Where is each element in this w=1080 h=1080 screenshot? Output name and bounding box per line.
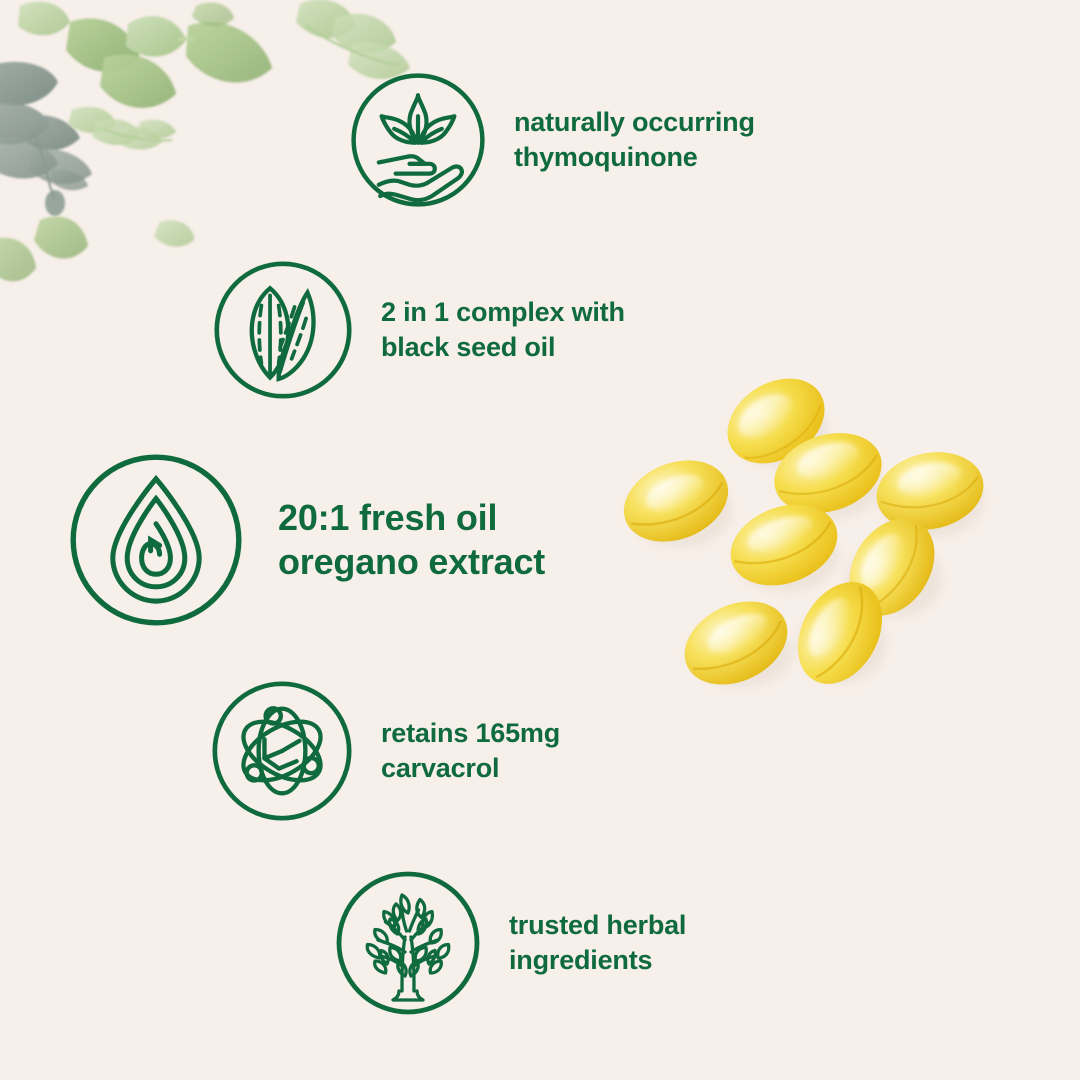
oil-droplet-spiral-icon xyxy=(66,450,246,630)
infographic-canvas: naturally occurring thymoquinone 2 in 1 … xyxy=(0,0,1080,1080)
herbal-tree-icon xyxy=(333,868,483,1018)
feature-trusted-herbal-ingredients: trusted herbal ingredients xyxy=(333,868,686,1018)
feature-icon-badge xyxy=(348,70,488,210)
hand-holding-sprout-icon xyxy=(348,70,488,210)
feature-label: trusted herbal ingredients xyxy=(509,908,686,978)
capsule xyxy=(671,585,801,701)
feature-icon-badge xyxy=(209,678,355,824)
feature-label: naturally occurring thymoquinone xyxy=(514,105,755,175)
black-seed-pair-icon xyxy=(211,258,355,402)
feature-icon-badge xyxy=(211,258,355,402)
feature-label: 2 in 1 complex with black seed oil xyxy=(381,295,625,365)
capsule xyxy=(612,446,741,557)
feature-20-to-1-fresh-oil-oregano-extract: 20:1 fresh oil oregano extract xyxy=(66,450,545,630)
golden-softgel-capsules xyxy=(600,355,1020,715)
feature-icon-badge xyxy=(66,450,246,630)
feature-icon-badge xyxy=(333,868,483,1018)
feature-label: 20:1 fresh oil oregano extract xyxy=(278,496,545,584)
feature-2-in-1-complex-black-seed-oil: 2 in 1 complex with black seed oil xyxy=(211,258,625,402)
feature-label: retains 165mg carvacrol xyxy=(381,716,560,786)
leaf-cluster-grey xyxy=(0,62,92,216)
atom-molecule-icon xyxy=(209,678,355,824)
feature-naturally-occurring-thymoquinone: naturally occurring thymoquinone xyxy=(348,70,755,210)
feature-retains-165mg-carvacrol: retains 165mg carvacrol xyxy=(209,678,560,824)
